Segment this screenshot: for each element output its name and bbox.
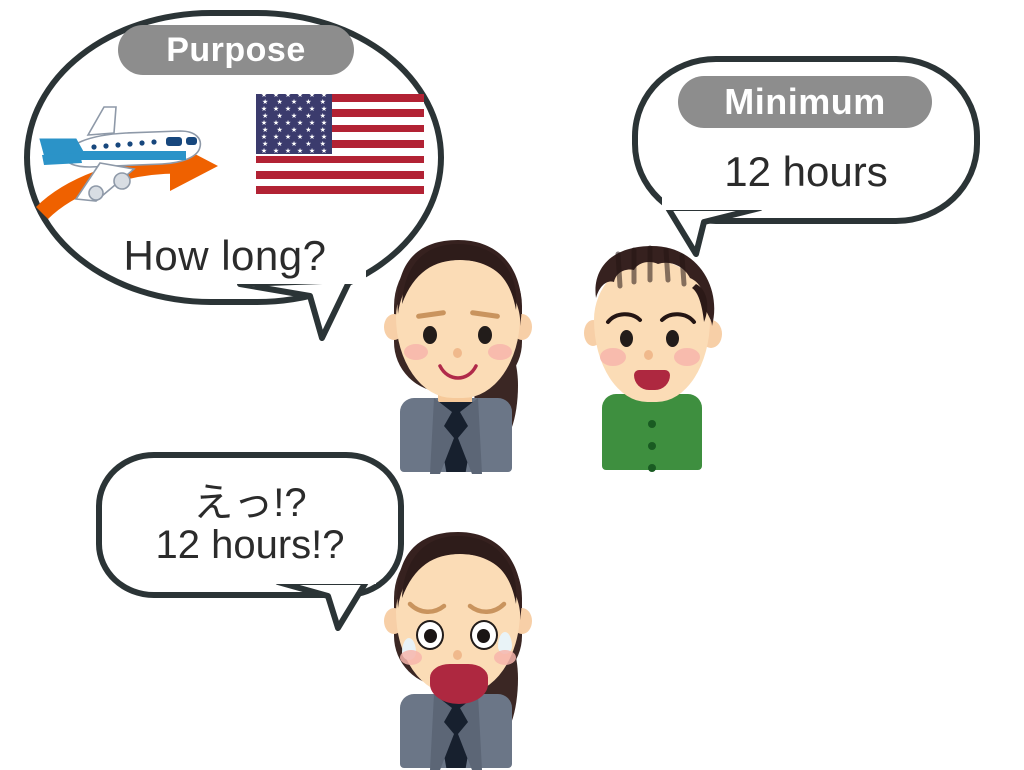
slide-canvas: Purpose bbox=[0, 0, 1024, 768]
surprise-bubble-line1: えっ!? bbox=[96, 470, 404, 528]
eye-left bbox=[620, 330, 633, 347]
airplane-arrow-group bbox=[28, 95, 248, 220]
purpose-bubble-text: How long? bbox=[60, 232, 390, 280]
cheek-right bbox=[494, 650, 516, 665]
eye-right bbox=[666, 330, 679, 347]
nose bbox=[453, 650, 462, 660]
cheek-right bbox=[488, 344, 512, 360]
pupil-left bbox=[424, 629, 437, 643]
cheek-right bbox=[674, 348, 700, 366]
suit-lapels bbox=[400, 396, 512, 474]
woman-asking-figure bbox=[378, 236, 538, 472]
nose bbox=[644, 350, 653, 360]
mouth-shocked bbox=[430, 664, 488, 704]
airplane-icon bbox=[30, 95, 230, 210]
minimum-bubble-text: 12 hours bbox=[632, 148, 980, 196]
woman-surprised-figure bbox=[378, 528, 538, 768]
minimum-pill-text: Minimum bbox=[724, 81, 886, 123]
eyebrows-worried bbox=[406, 598, 510, 620]
purpose-pill-label: Purpose bbox=[118, 25, 354, 75]
eyebrows bbox=[604, 308, 700, 330]
shirt-button-1 bbox=[648, 420, 656, 428]
cheek-left bbox=[600, 348, 626, 366]
nose bbox=[453, 348, 462, 358]
minimum-pill-label: Minimum bbox=[678, 76, 932, 128]
mouth-smile bbox=[436, 362, 480, 386]
cheek-left bbox=[400, 650, 422, 665]
surprise-bubble-line2: 12 hours!? bbox=[96, 523, 404, 568]
shirt-body bbox=[602, 394, 702, 470]
pupil-right bbox=[477, 629, 490, 643]
hair-front bbox=[388, 238, 528, 328]
eye-left bbox=[423, 326, 437, 344]
purpose-pill-text: Purpose bbox=[166, 31, 306, 70]
man-answering-figure bbox=[578, 244, 726, 470]
shirt-button-3 bbox=[648, 464, 656, 472]
cheek-left bbox=[404, 344, 428, 360]
us-flag-icon: ★★★★★★ ★★★★★ ★★★★★★ ★★★★★ ★★★★★★ ★★★★★ ★… bbox=[256, 94, 424, 194]
shirt-button-2 bbox=[648, 442, 656, 450]
eye-right bbox=[478, 326, 492, 344]
